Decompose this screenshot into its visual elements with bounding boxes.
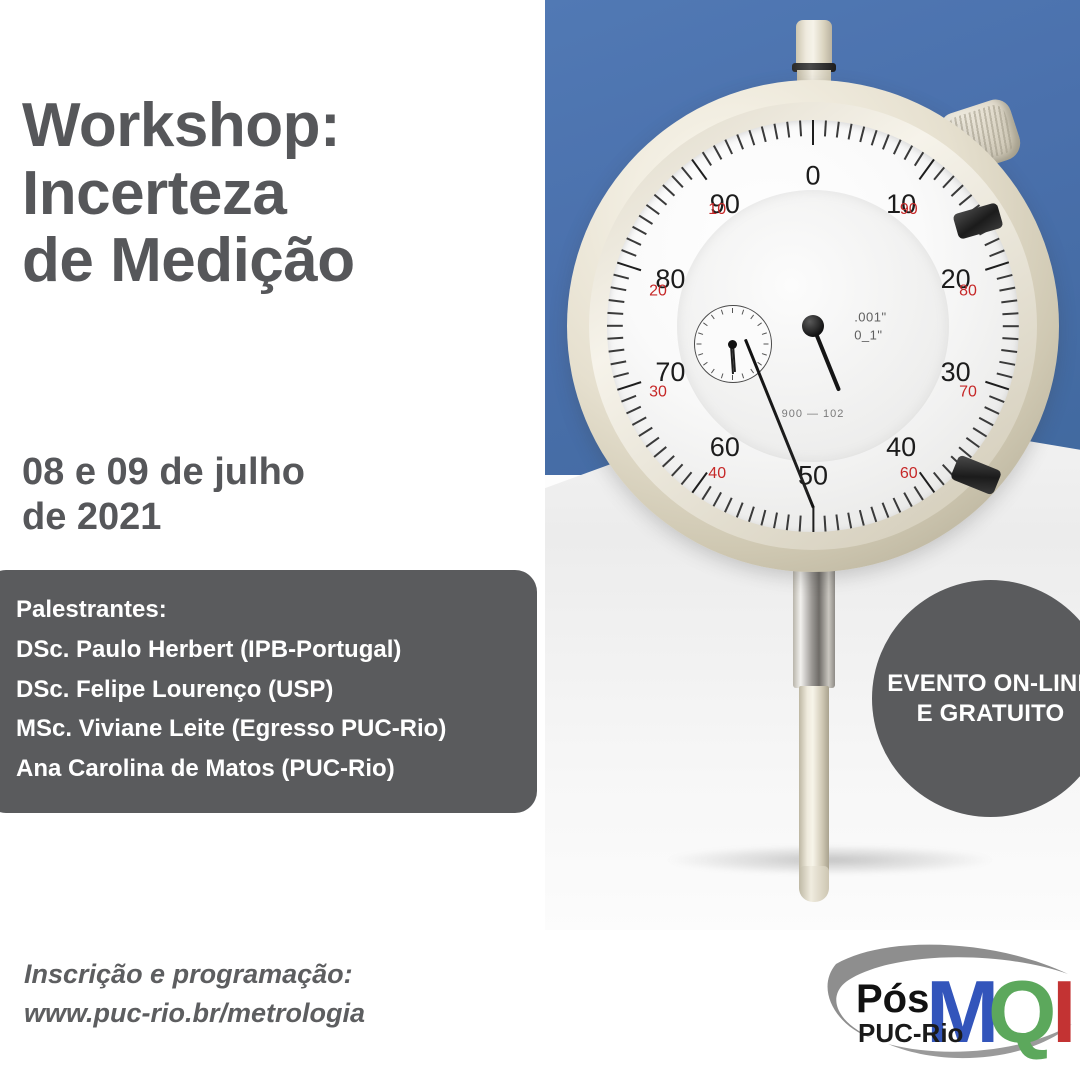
gauge-tick [836,122,840,138]
gauge-tick [632,417,647,426]
logo-word-pos: Pós [856,977,929,1021]
gauge-tick [654,194,667,205]
gauge-number-red: 80 [959,283,977,301]
speaker-item: Ana Carolina de Matos (PUC-Rio) [16,749,525,789]
page-title: Workshop: Incerteza de Medição [22,92,542,295]
gauge-tick [989,249,1004,256]
speaker-item: DSc. Paulo Herbert (IPB-Portugal) [16,630,525,670]
poster-canvas: .001" 0_1" 900 — 102 0102030405060708090… [0,0,1080,1080]
gauge-tick [610,361,626,366]
gauge-tick [681,167,692,180]
gauge-tick [713,145,722,160]
gauge-number-red: 60 [900,465,918,483]
gauge-tick [671,175,683,188]
gauge-tick [933,167,944,180]
revolution-tick [762,353,767,355]
gauge-tick [617,261,642,271]
revolution-tick [721,374,723,379]
title-line-2: Incerteza [22,160,542,228]
gauge-tick [997,372,1013,378]
logo-word-puc-rio: PUC-Rio [858,1018,963,1048]
gauge-tick [632,226,647,235]
gauge-tick [918,472,935,494]
gauge-tick [951,184,964,196]
gauge-tick [859,126,865,142]
revolution-hub [728,340,737,349]
revolution-tick [742,310,744,315]
speaker-item: DSc. Felipe Lourenço (USP) [16,670,525,710]
gauge-tick [662,184,675,196]
badge-text: EVENTO ON-LINE E GRATUITO [872,669,1080,728]
gauge-tick [882,502,889,517]
revolution-tick [703,362,708,366]
logo-letter-q: Q [988,962,1056,1061]
gauge-stem-lower [799,686,829,876]
gauge-tick [646,204,660,215]
gauge-tick [761,510,767,526]
gauge-tick [871,506,877,522]
gauge-tick [786,122,790,138]
gauge-tick [736,502,743,517]
gauge-tick [610,287,626,292]
gauge-tick [942,175,954,188]
gauge-tick [786,514,790,530]
gauge-tick [639,215,653,225]
gauge-tick [966,437,980,448]
gauge-tick [979,417,994,426]
gauge-tick [999,361,1015,366]
gauge-tick [654,446,667,457]
date-line-2: de 2021 [22,495,542,540]
gauge-tick [1001,299,1017,303]
revolution-tick [698,353,703,355]
gauge-tick [882,134,889,149]
speakers-heading: Palestrantes: [16,590,525,630]
gauge-tick [607,312,623,315]
gauge-tick [691,472,708,494]
gauge-number-black: 40 [886,432,916,463]
gauge-tick [799,120,802,136]
gauge-number-black: 50 [798,461,828,492]
registration-info: Inscrição e programação: www.puc-rio.br/… [24,955,544,1033]
gauge-number-red: 30 [649,383,667,401]
gauge-tick [626,238,641,246]
gauge-tick [713,492,722,507]
gauge-tick [997,274,1013,280]
gauge-tick [904,145,913,160]
gauge-tick [859,510,865,526]
gauge-tick [749,130,755,146]
gauge-tick [774,512,779,528]
badge-line-1: EVENTO ON-LINE [872,669,1080,698]
gauge-tick [1003,325,1019,327]
gauge-tick [985,381,1010,391]
speakers-list: Palestrantes: DSc. Paulo Herbert (IPB-Po… [16,590,525,789]
gauge-tick [725,139,733,154]
speaker-item: MSc. Viviane Leite (Egresso PUC-Rio) [16,709,525,749]
gauge-tick [799,516,802,532]
gauge-tick [812,507,814,532]
gauge-tick [646,437,660,448]
gauge-number-red: 90 [900,201,918,219]
gauge-tick [736,134,743,149]
revolution-tick [764,344,769,345]
revolution-tick [757,362,762,366]
gauge-tick [985,238,1000,246]
gauge-stem-upper [793,566,835,688]
gauge-number-red: 40 [708,465,726,483]
revolution-tick [711,369,715,374]
title-line-3: de Medição [22,227,542,295]
revolution-tick [757,323,762,327]
gauge-tick [985,406,1000,414]
revolution-tick [703,323,708,327]
gauge-tick [918,159,935,181]
speakers-panel: Palestrantes: DSc. Paulo Herbert (IPB-Po… [0,570,537,813]
gauge-tick [607,337,623,340]
gauge-tick [933,472,944,485]
gauge-tick [621,395,636,402]
gauge-model-code: 900 — 102 [782,408,845,420]
gauge-contact-tip [799,866,829,902]
gauge-tick [824,120,827,136]
revolution-tick [742,374,744,379]
gauge-tick [617,381,642,391]
gauge-tick [914,152,924,166]
gauge-tick [836,514,840,530]
revolution-tick [697,344,702,345]
gauge-tick [607,325,623,327]
gauge-tick [871,130,877,146]
gauge-tick [725,498,733,513]
registration-label: Inscrição e programação: [24,955,544,994]
gauge-number-red: 70 [959,383,977,401]
gauge-tick [691,159,708,181]
gauge-tick [1003,337,1019,340]
gauge-tick [702,486,712,500]
gauge-tick [609,349,625,353]
revolution-tick [721,310,723,315]
gauge-tick [621,249,636,256]
gauge-tick [999,287,1015,292]
gauge-needle-hub [802,315,824,337]
logo-graphic: M Q I Pós PUC-Rio [818,938,1080,1064]
gauge-bezel: .001" 0_1" 900 — 102 0102030405060708090… [567,80,1059,572]
gauge-tick [914,486,924,500]
registration-url[interactable]: www.puc-rio.br/metrologia [24,994,544,1033]
gauge-number-red: 10 [708,201,726,219]
revolution-tick [711,315,715,320]
gauge-tick [774,123,779,139]
gauge-tick [626,406,641,414]
gauge-resolution-spec: .001" 0_1" [854,308,886,343]
gauge-tick [989,395,1004,402]
gauge-tick [824,516,827,532]
gauge-tick [893,139,901,154]
title-line-1: Workshop: [22,92,542,160]
gauge-tick [1001,349,1017,353]
gauge-tick [761,126,767,142]
gauge-tick [985,261,1010,271]
gauge-tick [848,123,853,139]
gauge-tick [681,472,692,485]
gauge-number-black: 0 [805,161,820,192]
revolution-tick [732,308,733,313]
gauge-tick [959,194,972,205]
revolution-tick [698,333,703,335]
gauge-top-cap [796,20,832,66]
revolution-tick [750,369,754,374]
gauge-tick [749,506,755,522]
gauge-tick [904,492,913,507]
date-line-1: 08 e 09 de julho [22,450,542,495]
gauge-tick [702,152,712,166]
spec-line-2: 0_1" [854,327,882,342]
gauge-tick [973,427,987,437]
gauge-tick [613,372,629,378]
revolution-tick [750,315,754,320]
gauge-tick [812,120,814,145]
spec-line-1: .001" [854,309,886,324]
gauge-tick [893,498,901,513]
pos-mqi-logo: M Q I Pós PUC-Rio [818,938,1080,1064]
gauge-tick [613,274,629,280]
revolution-tick [762,333,767,335]
gauge-tick [1003,312,1019,315]
badge-line-2: E GRATUITO [872,699,1080,728]
revolution-tick [732,375,733,380]
gauge-tick [639,427,653,437]
gauge-number-red: 20 [649,283,667,301]
logo-letter-i: I [1052,962,1076,1061]
gauge-tick [671,464,683,477]
gauge-tick [662,455,675,467]
event-dates: 08 e 09 de julho de 2021 [22,450,542,540]
gauge-tick [609,299,625,303]
gauge-number-black: 60 [710,432,740,463]
gauge-tick [848,512,853,528]
